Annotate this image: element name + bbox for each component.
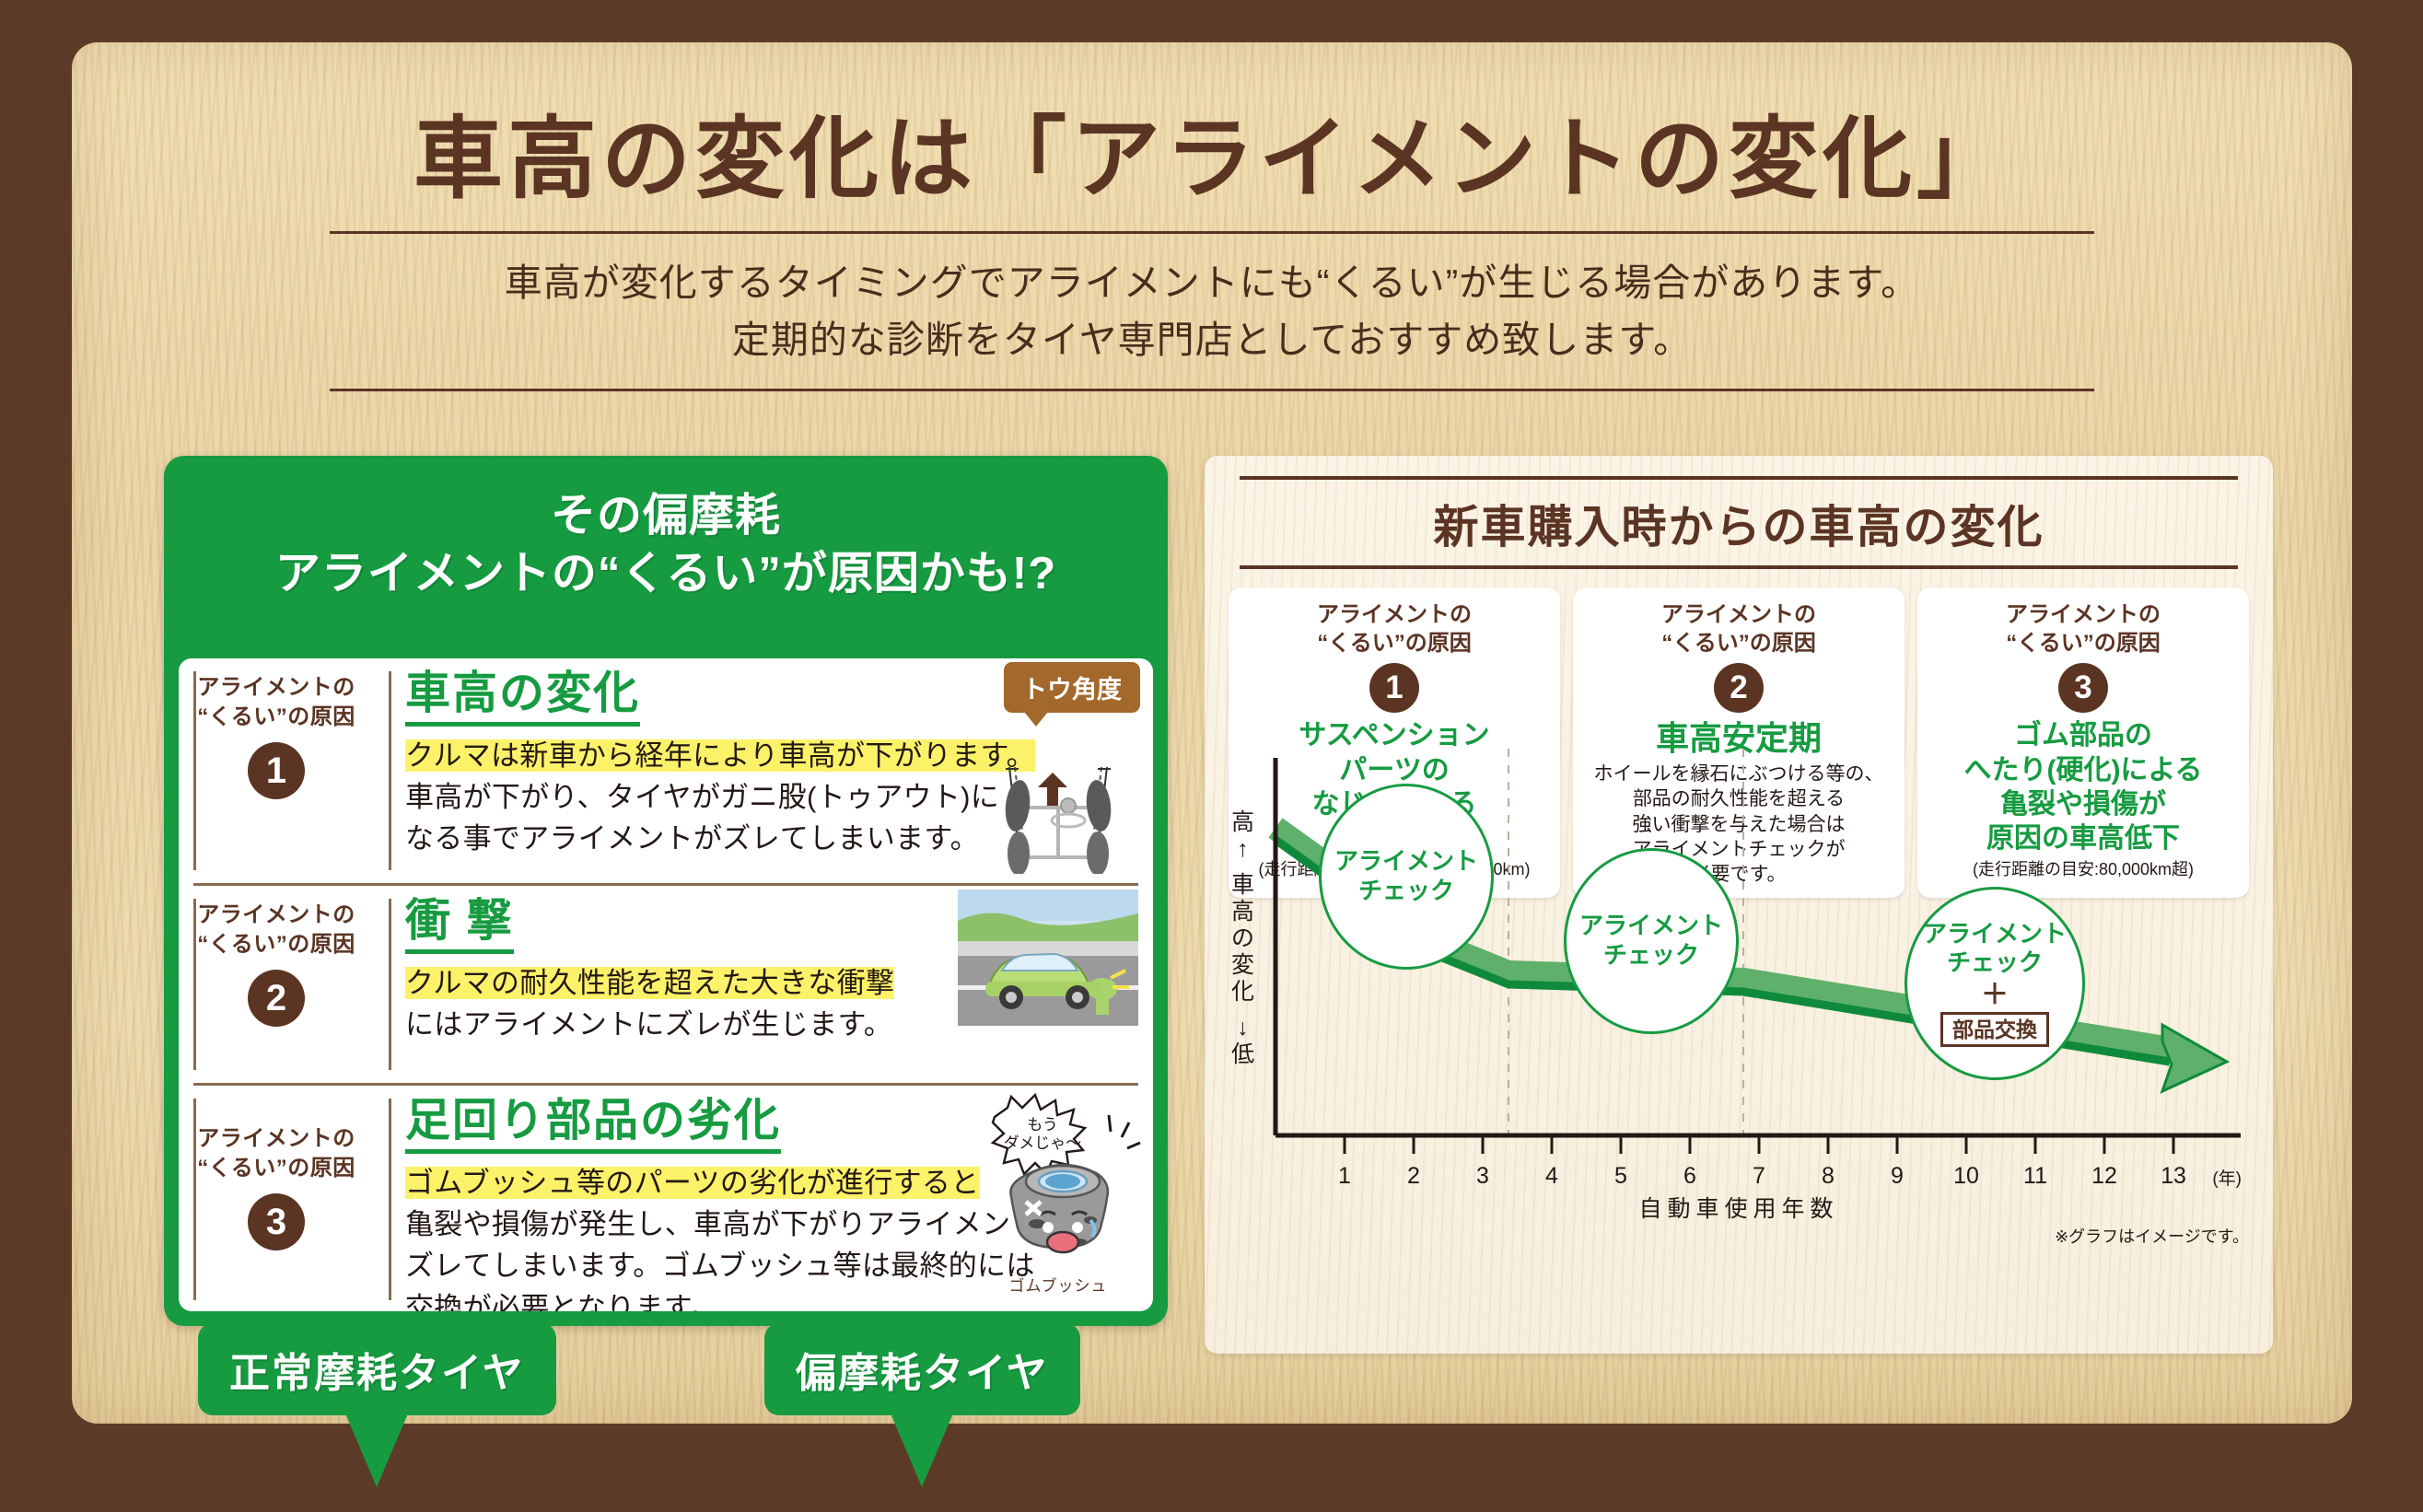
subtitle-line-1: 車高が変化するタイミングでアライメントにも“くるい”が生じる場合があります。 [72, 254, 2352, 311]
cause-heading-1: 車高の変化 [405, 669, 640, 727]
svg-text:9: 9 [1891, 1163, 1904, 1189]
x-axis-ticks [1345, 1135, 2173, 1154]
cause-text-3-line-3: ズレてしまいます。ゴムブッシュ等は最終的には [405, 1250, 1035, 1282]
cause-text-3-line-2: 亀裂や損傷が発生し、車高が下がりアライメントが [405, 1208, 1068, 1240]
page-title: 車高の変化は「アライメントの変化」 [72, 112, 2352, 207]
cause-card-3-label-line-2: “くるい”の原因 [1925, 629, 2242, 657]
cause-text-1-highlight: クルマは新車から経年により車高が下がります。 [405, 739, 1035, 772]
cause-text-1-line-2: 車高が下がり、タイヤがガニ股(トゥアウト)に [405, 781, 999, 813]
header: 車高の変化は「アライメントの変化」 車高が変化するタイミングでアライメントにも“… [72, 42, 2352, 391]
left-panel-title-line-1: その偏摩耗 [164, 487, 1168, 545]
cause-label-2: アライメントの “くるい”の原因 [179, 901, 374, 959]
right-panel-title: 新車購入時からの車高の変化 [1205, 480, 2273, 565]
cause-text-2-line-2: にはアライメントにズレが生じます。 [405, 1008, 892, 1041]
cause-card-2-label: アライメントの “くるい”の原因 [1580, 600, 1897, 657]
cause-card-1-badge: 1 [1369, 663, 1419, 713]
svg-text:7: 7 [1753, 1163, 1765, 1189]
cause-label-1-line-1: アライメントの [179, 673, 374, 703]
cause-card-1-title-line-1: サスペンション [1236, 718, 1553, 752]
cause-label-2-line-2: “くるい”の原因 [179, 930, 374, 960]
bubble-3-plus-icon: ＋ [1981, 982, 2009, 1009]
cause-body-3: 足回り部品の劣化 ゴムブッシュ等のパーツの劣化が進行すると 亀裂や損傷が発生し、… [374, 1086, 1153, 1311]
svg-text:12: 12 [2091, 1163, 2117, 1189]
cause-heading-2: 衝 撃 [405, 897, 514, 954]
subtitle-line-2: 定期的な診断をタイヤ専門店としておすすめ致します。 [72, 311, 2352, 368]
bubble-1-line-1: アライメント [1334, 847, 1478, 877]
bubble-2-line-1: アライメント [1579, 912, 1723, 941]
bubble-1-line-2: チェック [1358, 877, 1454, 906]
cause-label-3-line-2: “くるい”の原因 [179, 1154, 374, 1183]
cause-label-1-line-2: “くるい”の原因 [179, 703, 374, 732]
cause-body-2: 衝 撃 クルマの耐久性能を超えた大きな衝撃 にはアライメントにズレが生じます。 [374, 886, 1153, 1083]
page-subtitle: 車高が変化するタイミングでアライメントにも“くるい”が生じる場合があります。 定… [72, 254, 2352, 369]
alignment-check-bubble-3: アライメント チェック ＋ 部品交換 [1905, 887, 2085, 1080]
title-divider-top [330, 231, 2094, 234]
cause-number-block-2: アライメントの “くるい”の原因 2 [179, 886, 374, 1083]
rubber-bush-caption: ゴムブッシュ [971, 1273, 1146, 1296]
cause-card-1-label-line-2: “くるい”の原因 [1236, 629, 1553, 657]
tab-uneven-wear-tire-label: 偏摩耗タイヤ [796, 1351, 1049, 1396]
toe-angle-badge: トウ角度 [1004, 662, 1140, 713]
svg-text:6: 6 [1683, 1163, 1696, 1189]
cause-row-1: アライメントの “くるい”の原因 1 トウ角度 車高の変化 クルマは新車から経年… [179, 658, 1153, 883]
svg-text:10: 10 [1953, 1163, 1979, 1189]
cause-card-3-badge: 3 [2058, 663, 2108, 713]
cause-row-3: アライメントの “くるい”の原因 3 足回り部品の劣化 ゴムブッシュ等のパーツの… [179, 1086, 1153, 1311]
ride-height-chart: 高 ↑ 車高の変化 ↓ 低 [1205, 749, 2273, 1264]
cause-card-1-label-line-1: アライメントの [1236, 600, 1553, 629]
cause-label-3-line-1: アライメントの [179, 1124, 374, 1154]
toe-angle-diagram [985, 736, 1131, 878]
chart-arrow-icon [2162, 1025, 2227, 1091]
left-panel-white-card: アライメントの “くるい”の原因 1 トウ角度 車高の変化 クルマは新車から経年… [179, 658, 1153, 1311]
x-axis-unit: (年) [2212, 1165, 2242, 1190]
svg-text:1: 1 [1338, 1163, 1351, 1189]
cause-badge-1: 1 [248, 742, 305, 799]
cause-text-3-line-4: 交換が必要となります。 [405, 1292, 718, 1311]
rubber-bush-character: もう ダメじゃ〜 [971, 1086, 1146, 1296]
cause-label-2-line-1: アライメントの [179, 901, 374, 930]
left-panel-title-line-2: アライメントの“くるい”が原因かも!? [164, 545, 1168, 603]
tab-uneven-wear-tire[interactable]: 偏摩耗タイヤ [764, 1323, 1080, 1415]
cause-card-3-title-line-1: ゴム部品の [1925, 718, 2242, 752]
svg-text:3: 3 [1476, 1163, 1489, 1189]
cause-card-2-badge: 2 [1714, 663, 1764, 713]
cause-card-1-label: アライメントの “くるい”の原因 [1236, 600, 1553, 657]
x-axis-label: 自動車使用年数 [1205, 1191, 2273, 1224]
bubble-3-line-2: チェック [1947, 948, 2043, 978]
title-divider-bottom [330, 389, 2094, 391]
tab-normal-wear-tire-label: 正常摩耗タイヤ [229, 1351, 525, 1396]
cause-label-3: アライメントの “くるい”の原因 [179, 1124, 374, 1182]
svg-text:13: 13 [2161, 1163, 2186, 1189]
cause-heading-3: 足回り部品の劣化 [405, 1097, 781, 1154]
chart-footnote: ※グラフはイメージです。 [2055, 1224, 2249, 1248]
part-replacement-box: 部品交換 [1940, 1012, 2049, 1047]
cause-badge-2: 2 [248, 970, 305, 1027]
left-green-panel: その偏摩耗 アライメントの“くるい”が原因かも!? アライメントの “くるい”の… [164, 456, 1168, 1326]
svg-text:8: 8 [1822, 1163, 1835, 1189]
infographic-root: 車高の変化は「アライメントの変化」 車高が変化するタイミングでアライメントにも“… [0, 0, 2423, 1512]
speech-line-2: ダメじゃ〜 [1004, 1134, 1082, 1152]
left-panel-title: その偏摩耗 アライメントの“くるい”が原因かも!? [164, 456, 1168, 602]
cause-badge-3: 3 [248, 1193, 305, 1250]
cause-number-block-1: アライメントの “くるい”の原因 1 [179, 658, 374, 883]
cause-card-2-label-line-1: アライメントの [1580, 600, 1897, 629]
car-on-road-photo [958, 890, 1138, 1030]
svg-text:11: 11 [2023, 1163, 2047, 1189]
bubble-2-line-2: チェック [1603, 941, 1699, 971]
speech-line-1: もう [1027, 1116, 1058, 1134]
cause-label-1: アライメントの “くるい”の原因 [179, 673, 374, 731]
alignment-check-bubble-2: アライメント チェック [1564, 848, 1739, 1034]
svg-text:5: 5 [1614, 1163, 1627, 1189]
cause-card-3-label: アライメントの “くるい”の原因 [1925, 600, 2242, 657]
cause-body-1: トウ角度 車高の変化 クルマは新車から経年により車高が下がります。 車高が下がり… [374, 658, 1153, 883]
cause-text-3-highlight: ゴムブッシュ等のパーツの劣化が進行すると [405, 1167, 980, 1199]
cause-row-2: アライメントの “くるい”の原因 2 衝 撃 クルマの耐久性能を超えた大きな衝撃… [179, 886, 1153, 1083]
alignment-check-bubble-1: アライメント チェック [1319, 784, 1494, 970]
svg-text:2: 2 [1407, 1163, 1420, 1189]
svg-text:4: 4 [1545, 1163, 1558, 1189]
bubble-3-line-1: アライメント [1923, 920, 2067, 949]
cause-text-2-highlight: クルマの耐久性能を超えた大きな衝撃 [405, 967, 894, 999]
cause-card-2-label-line-2: “くるい”の原因 [1580, 629, 1897, 657]
tab-normal-wear-tire[interactable]: 正常摩耗タイヤ [198, 1323, 556, 1415]
right-chart-panel: 新車購入時からの車高の変化 アライメントの “くるい”の原因 1 サスペンション… [1205, 456, 2273, 1354]
cause-card-3-label-line-1: アライメントの [1925, 600, 2242, 629]
cause-number-block-3: アライメントの “くるい”の原因 3 [179, 1086, 374, 1311]
cause-text-1-line-3: なる事でアライメントがズレてしまいます。 [405, 822, 979, 855]
x-axis-tick-labels: 123 456 789 101112 13 [1338, 1163, 2186, 1189]
